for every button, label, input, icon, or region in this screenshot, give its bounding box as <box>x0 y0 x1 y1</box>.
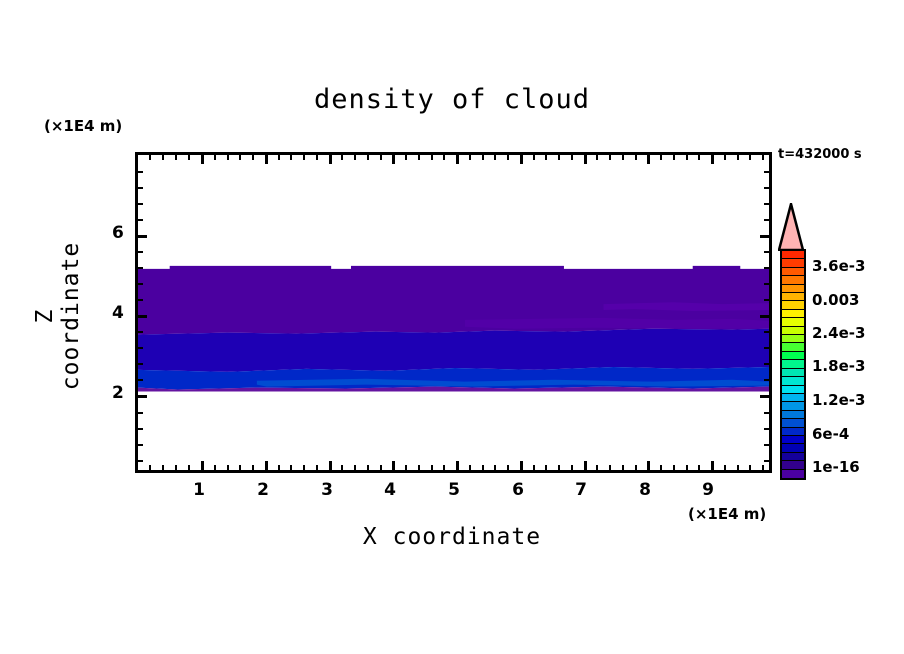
y-tick-label: 2 <box>112 383 124 403</box>
x-minor-tick <box>545 465 547 470</box>
colorbar-segment <box>782 444 804 452</box>
x-minor-tick <box>571 465 573 470</box>
x-minor-tick <box>380 465 382 470</box>
x-top-minor-tick <box>571 155 573 160</box>
y-axis-title: Z coordinate <box>32 236 84 396</box>
x-tick-label: 1 <box>193 480 205 500</box>
x-tick-label: 5 <box>448 480 460 500</box>
x-top-minor-tick <box>316 155 318 160</box>
x-top-minor-tick <box>188 155 190 160</box>
y-minor-tick <box>138 379 143 381</box>
colorbar-segment <box>782 453 804 461</box>
x-top-minor-tick <box>380 155 382 160</box>
x-major-tick <box>711 461 714 470</box>
x-top-minor-tick <box>482 155 484 160</box>
colorbar-segment <box>782 268 804 276</box>
cloud-density-field <box>138 155 769 470</box>
x-minor-tick <box>278 465 280 470</box>
x-axis-title: X coordinate <box>0 524 904 550</box>
x-top-minor-tick <box>278 155 280 160</box>
x-top-minor-tick <box>622 155 624 160</box>
x-minor-tick <box>737 465 739 470</box>
y-right-minor-tick <box>764 299 769 301</box>
y-minor-tick <box>138 428 143 430</box>
x-minor-tick <box>162 465 164 470</box>
x-minor-tick <box>698 465 700 470</box>
colorbar-segment <box>782 402 804 410</box>
colorbar[interactable] <box>780 249 806 480</box>
y-tick-label: 6 <box>112 223 124 243</box>
figure-canvas: density of cloud (×1E4 m) t=432000 s <box>0 0 904 654</box>
y-right-minor-tick <box>764 460 769 462</box>
x-top-minor-tick <box>724 155 726 160</box>
y-minor-tick <box>138 187 143 189</box>
x-minor-tick <box>443 465 445 470</box>
x-major-tick <box>392 461 395 470</box>
x-major-tick <box>265 461 268 470</box>
x-minor-tick <box>482 465 484 470</box>
y-minor-tick <box>138 171 143 173</box>
x-minor-tick <box>341 465 343 470</box>
x-top-major-tick <box>711 155 714 164</box>
x-minor-tick <box>507 465 509 470</box>
y-minor-tick <box>138 460 143 462</box>
colorbar-segment <box>782 335 804 343</box>
x-top-minor-tick <box>533 155 535 160</box>
x-minor-tick <box>405 465 407 470</box>
y-minor-tick <box>138 331 143 333</box>
x-tick-label: 7 <box>575 480 587 500</box>
x-top-minor-tick <box>418 155 420 160</box>
x-minor-tick <box>367 465 369 470</box>
x-top-major-tick <box>647 155 650 164</box>
x-minor-tick <box>239 465 241 470</box>
colorbar-tick-label: 6e-4 <box>812 425 849 443</box>
y-major-tick <box>138 395 147 398</box>
y-right-minor-tick <box>764 347 769 349</box>
colorbar-tick-label: 2.4e-3 <box>812 324 865 342</box>
x-minor-tick <box>622 465 624 470</box>
x-top-minor-tick <box>673 155 675 160</box>
colorbar-segment <box>782 411 804 419</box>
x-minor-tick <box>558 465 560 470</box>
x-top-minor-tick <box>545 155 547 160</box>
x-top-major-tick <box>392 155 395 164</box>
y-right-minor-tick <box>764 428 769 430</box>
y-right-minor-tick <box>764 412 769 414</box>
colorbar-segment <box>782 419 804 427</box>
colorbar-tick-label: 1e-16 <box>812 458 860 476</box>
x-top-minor-tick <box>494 155 496 160</box>
x-top-minor-tick <box>162 155 164 160</box>
x-minor-tick <box>673 465 675 470</box>
colorbar-segment <box>782 352 804 360</box>
colorbar-segment <box>782 386 804 394</box>
y-major-tick <box>138 235 147 238</box>
x-minor-tick <box>175 465 177 470</box>
x-major-tick <box>520 461 523 470</box>
x-minor-tick <box>596 465 598 470</box>
colorbar-tick-label: 1.2e-3 <box>812 391 865 409</box>
x-major-tick <box>329 461 332 470</box>
x-tick-label: 6 <box>512 480 524 500</box>
y-right-minor-tick <box>764 187 769 189</box>
colorbar-segment <box>782 360 804 368</box>
x-top-minor-tick <box>303 155 305 160</box>
y-right-minor-tick <box>764 331 769 333</box>
colorbar-segment <box>782 436 804 444</box>
x-minor-tick <box>494 465 496 470</box>
x-top-minor-tick <box>149 155 151 160</box>
y-minor-tick <box>138 203 143 205</box>
x-minor-tick <box>609 465 611 470</box>
colorbar-segment <box>782 301 804 309</box>
y-minor-tick <box>138 251 143 253</box>
x-top-major-tick <box>329 155 332 164</box>
x-tick-label: 8 <box>639 480 651 500</box>
x-top-minor-tick <box>443 155 445 160</box>
x-top-minor-tick <box>469 155 471 160</box>
colorbar-segment <box>782 428 804 436</box>
x-minor-tick <box>354 465 356 470</box>
y-minor-tick <box>138 412 143 414</box>
x-top-minor-tick <box>252 155 254 160</box>
x-minor-tick <box>724 465 726 470</box>
y-right-major-tick <box>760 315 769 318</box>
x-top-minor-tick <box>686 155 688 160</box>
y-right-minor-tick <box>764 203 769 205</box>
colorbar-segment <box>782 343 804 351</box>
x-minor-tick <box>316 465 318 470</box>
x-minor-tick <box>418 465 420 470</box>
x-top-minor-tick <box>507 155 509 160</box>
x-top-minor-tick <box>749 155 751 160</box>
x-minor-tick <box>227 465 229 470</box>
colorbar-over-arrow <box>778 203 804 251</box>
x-top-major-tick <box>456 155 459 164</box>
colorbar-segment <box>782 259 804 267</box>
y-right-minor-tick <box>764 363 769 365</box>
y-minor-tick <box>138 219 143 221</box>
colorbar-segment <box>782 310 804 318</box>
x-top-major-tick <box>265 155 268 164</box>
colorbar-tick-label: 0.003 <box>812 291 859 309</box>
y-right-minor-tick <box>764 251 769 253</box>
cloud-mid-layer <box>138 329 769 372</box>
x-major-tick <box>647 461 650 470</box>
x-minor-tick <box>762 465 764 470</box>
colorbar-segment <box>782 377 804 385</box>
colorbar-segment <box>782 470 804 478</box>
x-top-minor-tick <box>341 155 343 160</box>
x-top-minor-tick <box>558 155 560 160</box>
y-minor-tick <box>138 363 143 365</box>
y-tick-label: 4 <box>112 303 124 323</box>
x-top-minor-tick <box>290 155 292 160</box>
y-minor-tick <box>138 347 143 349</box>
plot-area <box>135 152 772 473</box>
colorbar-segment <box>782 285 804 293</box>
colorbar-segment <box>782 394 804 402</box>
x-top-minor-tick <box>175 155 177 160</box>
x-top-minor-tick <box>431 155 433 160</box>
x-top-minor-tick <box>635 155 637 160</box>
y-major-tick <box>138 315 147 318</box>
y-minor-tick <box>138 267 143 269</box>
x-axis-unit-label: (×1E4 m) <box>688 505 766 523</box>
x-minor-tick <box>431 465 433 470</box>
x-major-tick <box>201 461 204 470</box>
x-top-minor-tick <box>239 155 241 160</box>
x-top-minor-tick <box>660 155 662 160</box>
x-top-minor-tick <box>609 155 611 160</box>
y-right-minor-tick <box>764 267 769 269</box>
x-minor-tick <box>252 465 254 470</box>
colorbar-segment <box>782 293 804 301</box>
colorbar-segment <box>782 327 804 335</box>
y-minor-tick <box>138 299 143 301</box>
x-major-tick <box>456 461 459 470</box>
x-top-minor-tick <box>698 155 700 160</box>
y-minor-tick <box>138 444 143 446</box>
x-minor-tick <box>686 465 688 470</box>
x-minor-tick <box>149 465 151 470</box>
x-top-major-tick <box>201 155 204 164</box>
colorbar-segment <box>782 461 804 469</box>
x-top-minor-tick <box>227 155 229 160</box>
x-minor-tick <box>290 465 292 470</box>
colorbar-tick-label: 1.8e-3 <box>812 357 865 375</box>
x-minor-tick <box>188 465 190 470</box>
x-minor-tick <box>635 465 637 470</box>
x-tick-label: 9 <box>702 480 714 500</box>
x-top-minor-tick <box>354 155 356 160</box>
colorbar-segment <box>782 276 804 284</box>
x-top-major-tick <box>520 155 523 164</box>
y-right-minor-tick <box>764 283 769 285</box>
x-minor-tick <box>533 465 535 470</box>
y-axis-unit-label: (×1E4 m) <box>44 117 122 135</box>
y-right-minor-tick <box>764 171 769 173</box>
colorbar-segment <box>782 251 804 259</box>
x-minor-tick <box>660 465 662 470</box>
x-minor-tick <box>303 465 305 470</box>
x-top-minor-tick <box>405 155 407 160</box>
cloud-internal-streak-a <box>465 318 769 329</box>
colorbar-segment <box>782 369 804 377</box>
colorbar-tick-label: 3.6e-3 <box>812 257 865 275</box>
x-top-minor-tick <box>762 155 764 160</box>
x-top-major-tick <box>584 155 587 164</box>
y-right-minor-tick <box>764 444 769 446</box>
x-top-minor-tick <box>737 155 739 160</box>
x-minor-tick <box>749 465 751 470</box>
x-tick-label: 2 <box>257 480 269 500</box>
chart-title: density of cloud <box>0 84 904 115</box>
y-right-minor-tick <box>764 219 769 221</box>
x-top-minor-tick <box>367 155 369 160</box>
x-top-minor-tick <box>596 155 598 160</box>
x-minor-tick <box>214 465 216 470</box>
y-right-major-tick <box>760 395 769 398</box>
y-right-minor-tick <box>764 379 769 381</box>
x-major-tick <box>584 461 587 470</box>
timestamp-annotation: t=432000 s <box>778 147 862 162</box>
y-right-major-tick <box>760 235 769 238</box>
x-tick-label: 4 <box>384 480 396 500</box>
colorbar-segment <box>782 318 804 326</box>
y-minor-tick <box>138 283 143 285</box>
x-top-minor-tick <box>214 155 216 160</box>
x-tick-label: 3 <box>321 480 333 500</box>
x-minor-tick <box>469 465 471 470</box>
